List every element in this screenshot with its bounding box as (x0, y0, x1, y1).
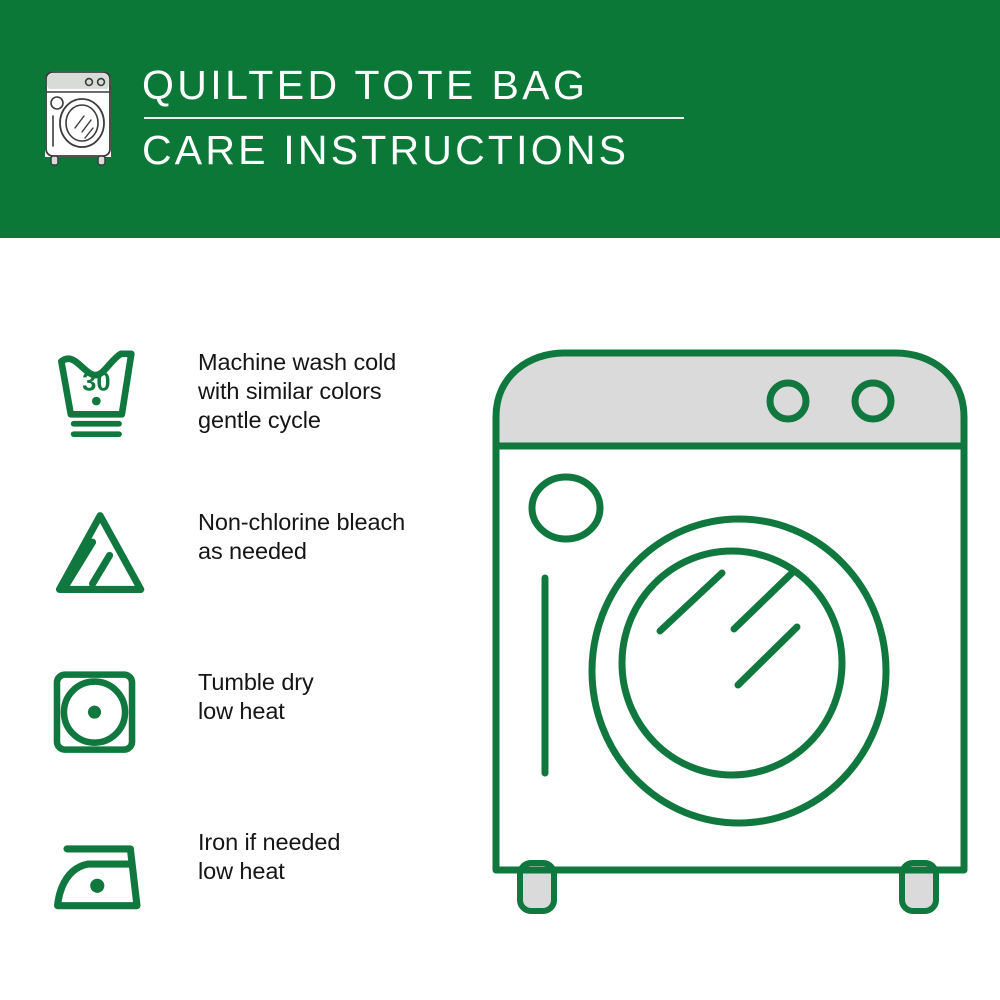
header-content: QUILTED TOTE BAG CARE INSTRUCTIONS (42, 62, 684, 173)
drum-door-inner (622, 551, 842, 775)
care-label-bleach: Non-chlorine bleach as needed (198, 508, 405, 566)
non-chlorine-bleach-icon (50, 498, 160, 608)
care-label-tumble-dry: Tumble dry low heat (198, 668, 314, 726)
care-line: as needed (198, 537, 405, 566)
content-area: 30 Machine wash cold with similar colors… (0, 238, 1000, 1000)
care-line: Iron if needed (198, 828, 340, 857)
header-banner: QUILTED TOTE BAG CARE INSTRUCTIONS (0, 0, 1000, 238)
detergent-port (532, 477, 600, 539)
care-row-tumble-dry: Tumble dry low heat (50, 658, 470, 818)
care-label-iron: Iron if needed low heat (198, 828, 340, 886)
care-line: low heat (198, 697, 314, 726)
care-line: low heat (198, 857, 340, 886)
care-row-bleach: Non-chlorine bleach as needed (50, 498, 470, 658)
washing-machine-icon (42, 66, 120, 170)
care-line: Tumble dry (198, 668, 314, 697)
care-line: gentle cycle (198, 406, 396, 435)
front-load-washing-machine-illustration (490, 333, 970, 933)
care-line: with similar colors (198, 377, 396, 406)
glass-shine-1 (660, 573, 722, 631)
machine-wash-30-gentle-icon: 30 (50, 338, 160, 448)
iron-low-heat-icon (50, 818, 160, 928)
care-label-machine-wash: Machine wash cold with similar colors ge… (198, 348, 396, 435)
product-title: QUILTED TOTE BAG (142, 62, 684, 108)
tumble-dry-low-heat-icon (50, 658, 160, 768)
header-title-block: QUILTED TOTE BAG CARE INSTRUCTIONS (142, 62, 684, 173)
svg-text:30: 30 (82, 368, 110, 396)
care-line: Machine wash cold (198, 348, 396, 377)
care-row-iron: Iron if needed low heat (50, 818, 470, 978)
care-instruction-list: 30 Machine wash cold with similar colors… (50, 338, 470, 978)
title-divider (144, 117, 684, 119)
page-title: CARE INSTRUCTIONS (142, 127, 684, 173)
care-row-machine-wash: 30 Machine wash cold with similar colors… (50, 338, 470, 498)
glass-shine-2 (734, 571, 794, 629)
care-line: Non-chlorine bleach (198, 508, 405, 537)
care-instructions-card: QUILTED TOTE BAG CARE INSTRUCTIONS 30 (0, 0, 1000, 1000)
glass-shine-3 (738, 627, 797, 685)
